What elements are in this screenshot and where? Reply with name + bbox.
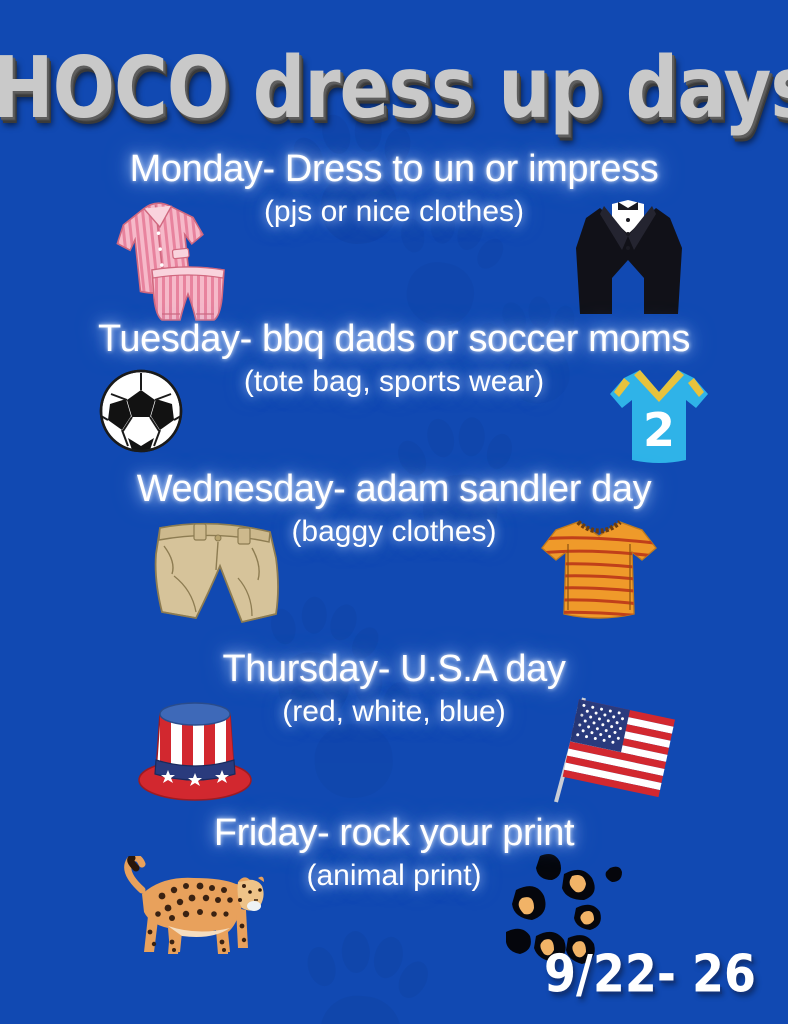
- day-row-thursday: Thursday- U.S.A day (red, white, blue): [0, 648, 788, 729]
- day-headline-monday: Monday- Dress to un or impress: [0, 148, 788, 191]
- day-sub-monday: (pjs or nice clothes): [0, 195, 788, 229]
- day-sub-friday: (animal print): [0, 859, 788, 893]
- day-row-tuesday: Tuesday- bbq dads or soccer moms (tote b…: [0, 318, 788, 399]
- day-sub-tuesday: (tote bag, sports wear): [0, 365, 788, 399]
- day-headline-wednesday: Wednesday- adam sandler day: [0, 468, 788, 511]
- day-sub-thursday: (red, white, blue): [0, 695, 788, 729]
- day-headline-friday: Friday- rock your print: [0, 812, 788, 855]
- poster: HOCO dress up days Monday- Dress to un o…: [0, 0, 788, 1024]
- day-sub-wednesday: (baggy clothes): [0, 515, 788, 549]
- jersey-number: 2: [643, 403, 675, 457]
- day-headline-thursday: Thursday- U.S.A day: [0, 648, 788, 691]
- day-row-wednesday: Wednesday- adam sandler day (baggy cloth…: [0, 468, 788, 549]
- date-label: 9/22- 26: [544, 944, 756, 1004]
- day-headline-tuesday: Tuesday- bbq dads or soccer moms: [0, 318, 788, 361]
- day-row-friday: Friday- rock your print (animal print): [0, 812, 788, 893]
- day-row-monday: Monday- Dress to un or impress (pjs or n…: [0, 148, 788, 229]
- page-title: HOCO dress up days: [0, 38, 788, 137]
- paw-print-icon: [292, 924, 432, 1024]
